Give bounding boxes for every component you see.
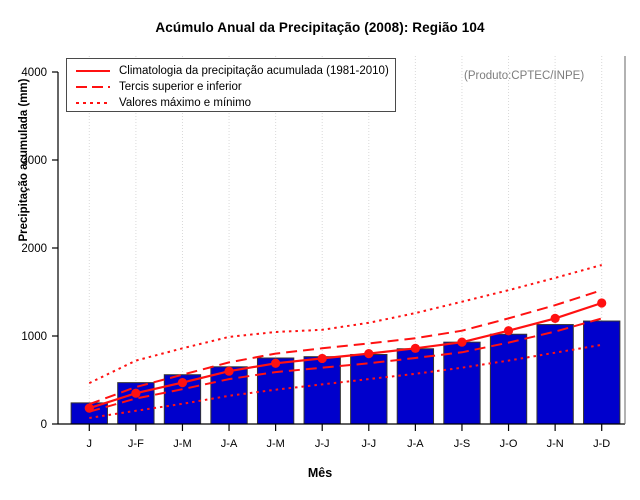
data-point	[364, 349, 373, 358]
x-tick-label: J	[87, 438, 93, 450]
y-tick-label: 2000	[21, 243, 47, 255]
y-tick-label: 3000	[21, 155, 47, 167]
bar	[584, 321, 620, 424]
x-tick-label: J-D	[593, 438, 610, 450]
legend-item-valores: Valores máximo e mínimo	[67, 95, 251, 111]
x-tick-label: J-N	[547, 438, 564, 450]
bar	[397, 349, 433, 424]
data-point	[178, 378, 187, 387]
bar	[304, 357, 340, 424]
bar	[537, 325, 573, 424]
chart-root: Acúmulo Anual da Precipitação (2008): Re…	[0, 0, 640, 500]
x-tick-label: J-J	[361, 438, 376, 450]
data-point	[224, 367, 233, 376]
y-tick-label: 1000	[21, 331, 47, 343]
x-tick-label: J-A	[407, 438, 424, 450]
data-point	[597, 298, 606, 307]
legend-swatch-dotted	[75, 96, 111, 110]
legend-item-tercis: Tercis superior e inferior	[67, 79, 242, 95]
data-point	[411, 344, 420, 353]
bar	[351, 354, 387, 424]
y-tick-labels: 01000200030004000	[21, 67, 58, 431]
bar-series	[71, 321, 620, 424]
x-tick-label: J-J	[315, 438, 330, 450]
x-tick-labels: JJ-FJ-MJ-AJ-MJ-JJ-JJ-AJ-SJ-OJ-NJ-D	[87, 424, 611, 450]
data-point	[551, 314, 560, 323]
x-tick-label: J-A	[221, 438, 238, 450]
legend-label-valores: Valores máximo e mínimo	[119, 97, 251, 109]
legend-item-climatologia: Climatologia da precipitação acumulada (…	[67, 63, 389, 79]
x-tick-label: J-M	[266, 438, 284, 450]
data-point	[131, 389, 140, 398]
data-point	[457, 338, 466, 347]
credit-label: (Produto:CPTEC/INPE)	[464, 70, 584, 82]
y-tick-label: 4000	[21, 67, 47, 79]
data-point	[271, 359, 280, 368]
x-tick-label: J-S	[454, 438, 471, 450]
legend-swatch-dashed	[75, 80, 111, 94]
bar	[490, 334, 526, 424]
legend-label-tercis: Tercis superior e inferior	[119, 81, 242, 93]
y-tick-label: 0	[41, 419, 47, 431]
legend-label-climatologia: Climatologia da precipitação acumulada (…	[119, 65, 389, 77]
data-point	[85, 404, 94, 413]
x-tick-label: J-F	[128, 438, 144, 450]
legend-swatch-solid	[75, 64, 111, 78]
x-tick-label: J-O	[500, 438, 518, 450]
data-point	[504, 326, 513, 335]
x-tick-label: J-M	[173, 438, 191, 450]
data-point	[318, 354, 327, 363]
legend: Climatologia da precipitação acumulada (…	[66, 58, 396, 112]
